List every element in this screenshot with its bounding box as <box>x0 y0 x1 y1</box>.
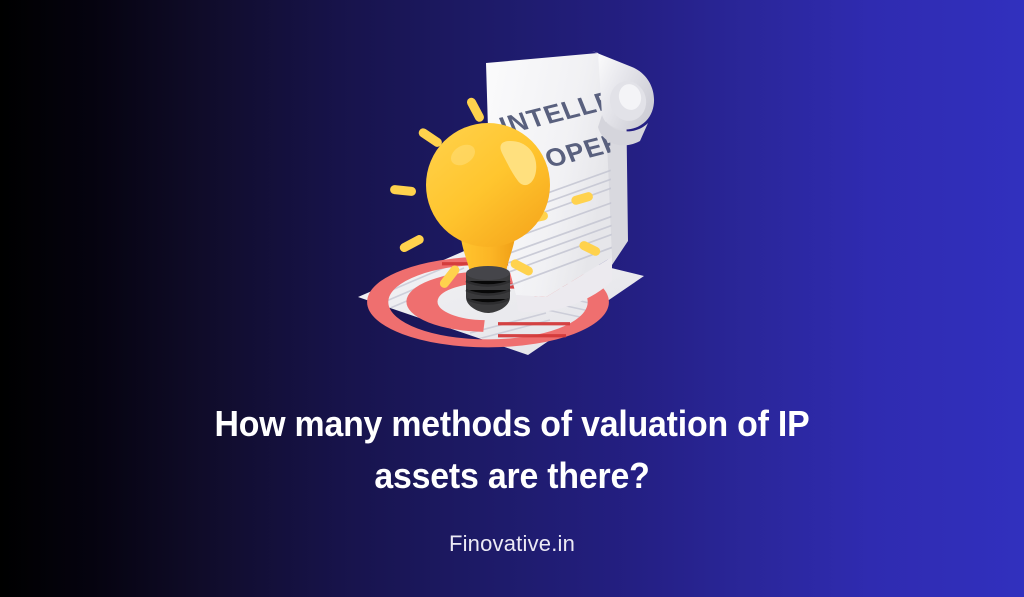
brand-label: Finovative.in <box>0 531 1024 557</box>
intellectual-property-illustration: INTELLECTUAL PROPERTY <box>340 45 700 385</box>
lightbulb-base <box>466 266 510 313</box>
page-title: How many methods of valuation of IP asse… <box>31 398 994 502</box>
headline-line-2: assets are there? <box>31 450 994 502</box>
banner-canvas: INTELLECTUAL PROPERTY <box>0 0 1024 597</box>
scroll-curl <box>592 51 654 145</box>
headline-line-1: How many methods of valuation of IP <box>31 398 994 450</box>
